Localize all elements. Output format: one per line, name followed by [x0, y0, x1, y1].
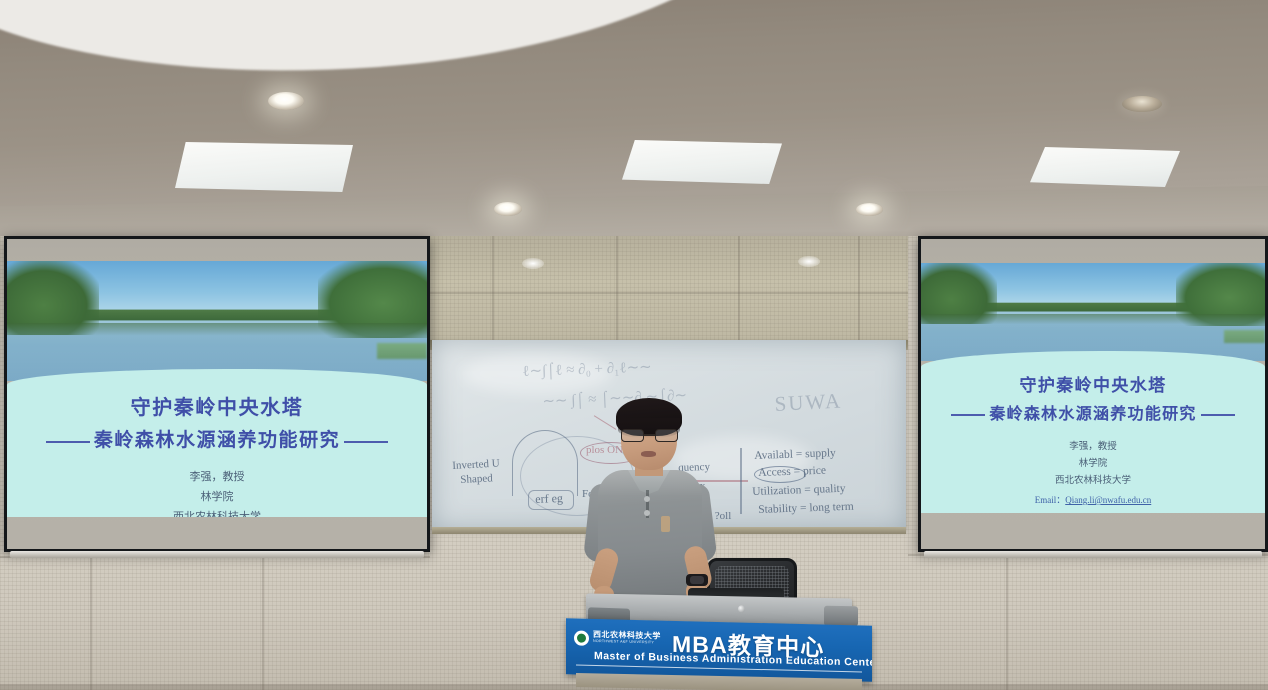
title-rule-left: [46, 441, 90, 443]
slide-title-line1-r: 守护秦岭中央水塔: [921, 371, 1265, 396]
wall-seam-v2: [262, 536, 264, 690]
wall-light-reflection-1: [522, 258, 544, 269]
podium-equipment-right: [824, 606, 858, 627]
glasses-icon: [621, 429, 678, 442]
slide-university-r: 西北农林科技大学: [921, 472, 1265, 486]
slide-title-line2-wrap-r: 秦岭森林水源涵养功能研究: [989, 400, 1196, 424]
lecture-hall-photo: 守护秦岭中央水塔 秦岭森林水源涵养功能研究 李强，教授 林学院 西北农林科技大学…: [0, 0, 1268, 690]
podium-org-en: NORTHWEST A&F UNIVERSITY: [593, 639, 654, 644]
ceiling: [0, 0, 1268, 258]
slide-body-left: 守护秦岭中央水塔 秦岭森林水源涵养功能研究 李强，教授 林学院 西北农林科技大学…: [7, 369, 427, 517]
right-screen-roller: [924, 551, 1262, 558]
ceiling-panel-light-2: [622, 140, 782, 184]
presenter-shirt-button-2: [644, 510, 650, 516]
slide-university: 西北农林科技大学: [7, 508, 427, 517]
whiteboard-brace: [740, 448, 742, 514]
slide-department: 林学院: [7, 488, 427, 504]
slide-photo-right: [921, 263, 1265, 361]
presenter-shirt-emblem: [661, 516, 670, 532]
ceiling-panel-light-3: [1030, 147, 1180, 187]
presenter-shirt-button-1: [644, 496, 650, 502]
right-slide: 守护秦岭中央水塔 秦岭森林水源涵养功能研究 李强，教授 林学院 西北农林科技大学…: [921, 263, 1265, 513]
podium-sign-band: 西北农林科技大学 NORTHWEST A&F UNIVERSITY MBA教育中…: [566, 618, 872, 681]
upper-seam-h: [430, 292, 908, 294]
whiteboard-note-12: Stability = long term: [758, 501, 854, 516]
university-emblem-icon: [574, 630, 589, 645]
whiteboard-note-9: Availabl = supply: [754, 447, 836, 462]
whiteboard-note-1: Shaped: [460, 472, 493, 486]
wall-panel-above-whiteboard: [430, 236, 908, 348]
slide-email-value-r: Qiang.li@nwafu.edu.cn: [1065, 495, 1151, 505]
left-screen-roller: [10, 551, 424, 558]
glasses-lens-left: [621, 429, 644, 442]
ceiling-spotlight-1: [268, 92, 304, 110]
glasses-lens-right: [655, 429, 678, 442]
left-slide: 守护秦岭中央水塔 秦岭森林水源涵养功能研究 李强，教授 林学院 西北农林科技大学…: [7, 261, 427, 517]
ceiling-curved-soffit: [0, 0, 790, 101]
whiteboard-note-11: Utilization = quality: [752, 483, 846, 498]
right-projection-screen: 守护秦岭中央水塔 秦岭森林水源涵养功能研究 李强，教授 林学院 西北农林科技大学…: [918, 236, 1268, 552]
podium-sign-en: Master of Business Administration Educat…: [594, 650, 872, 669]
slide-department-r: 林学院: [921, 455, 1265, 469]
title-rule-right: [344, 441, 388, 443]
slide-photo-left: [7, 261, 427, 381]
ceiling-spotlight-2: [494, 202, 522, 216]
wrist-watch: [686, 574, 708, 586]
lectern-podium: 西北农林科技大学 NORTHWEST A&F UNIVERSITY MBA教育中…: [566, 596, 872, 690]
podium-screw: [738, 605, 745, 612]
slide-body-right: 守护秦岭中央水塔 秦岭森林水源涵养功能研究 李强，教授 林学院 西北农林科技大学…: [921, 351, 1265, 513]
glasses-bridge: [644, 434, 655, 436]
whiteboard-note-faint-1: ℓ∼∫⌠ℓ ≈ ∂₀ + ∂₁ℓ∼∼: [522, 357, 652, 381]
slide-title-line2: 秦岭森林水源涵养功能研究: [94, 430, 340, 451]
ceiling-panel-light-1: [175, 142, 353, 192]
slide-presenter: 李强，教授: [7, 468, 427, 484]
slide-title-line2-r: 秦岭森林水源涵养功能研究: [989, 406, 1196, 423]
title-rule-left-r: [951, 414, 985, 416]
slide-presenter-r: 李强，教授: [921, 438, 1265, 452]
left-projection-screen: 守护秦岭中央水塔 秦岭森林水源涵养功能研究 李强，教授 林学院 西北农林科技大学…: [4, 236, 430, 552]
slide-title-line1: 守护秦岭中央水塔: [7, 391, 427, 420]
right-screen-surface: 守护秦岭中央水塔 秦岭森林水源涵养功能研究 李强，教授 林学院 西北农林科技大学…: [921, 239, 1265, 549]
wall-light-reflection-2: [798, 256, 820, 267]
whiteboard-note-10: Access = price: [758, 465, 826, 479]
ceiling-spotlight-3: [856, 203, 883, 216]
left-screen-surface: 守护秦岭中央水塔 秦岭森林水源涵养功能研究 李强，教授 林学院 西北农林科技大学…: [7, 239, 427, 549]
slide-title-line2-wrap: 秦岭森林水源涵养功能研究: [94, 425, 340, 452]
ceiling-spotlight-4: [1122, 96, 1162, 112]
slide-email-line-r: Email：Qiang.li@nwafu.edu.cn: [921, 493, 1265, 506]
presenter-mouth: [641, 451, 656, 457]
slide-email-label-r: Email：: [1035, 495, 1066, 505]
title-rule-right-r: [1201, 414, 1235, 416]
whiteboard-note-0: Inverted U: [452, 458, 500, 472]
wall-seam-v3: [1006, 536, 1008, 690]
